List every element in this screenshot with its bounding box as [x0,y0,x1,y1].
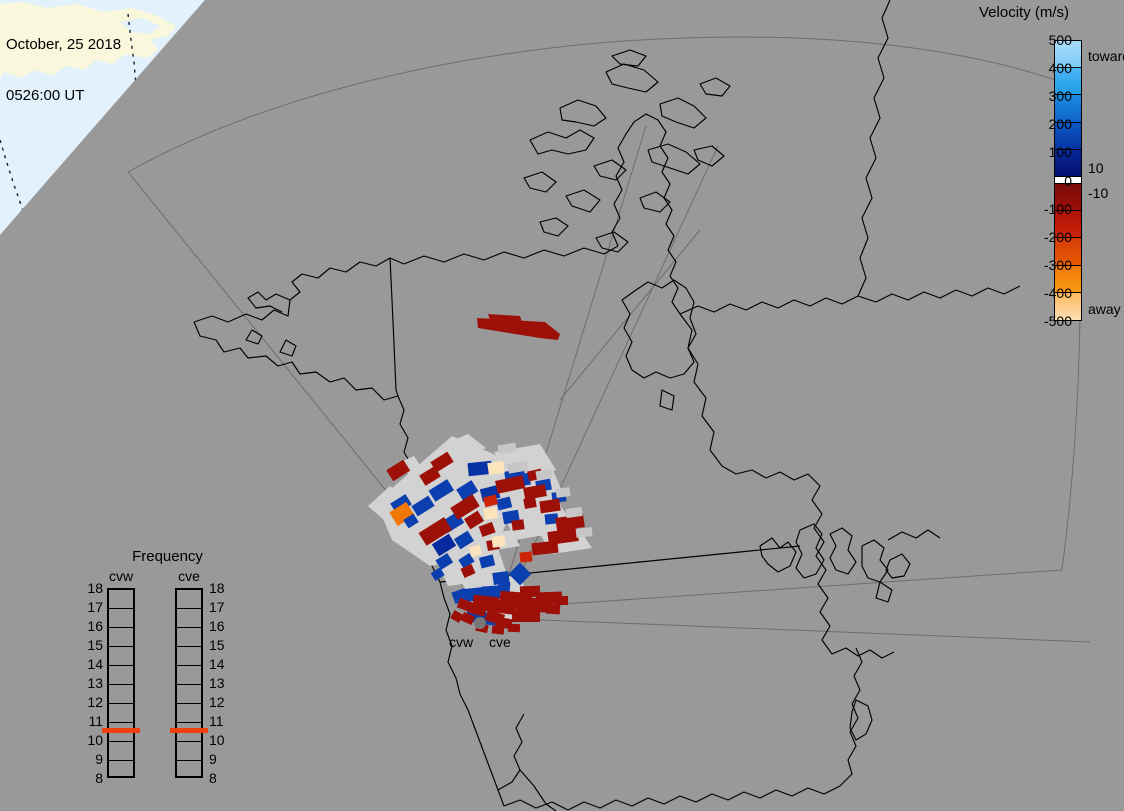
frequency-cell [109,761,133,780]
radar-map-canvas: October, 25 2018 0526:00 UT Velocity (m/… [0,0,1124,811]
velocity-tick-300: 300 [1049,88,1072,104]
frequency-cell [177,666,201,685]
frequency-cell [177,628,201,647]
frequency-tick-cvw-16: 16 [85,618,103,634]
frequency-cell [177,647,201,666]
frequency-scale-cvw [107,588,135,778]
frequency-cell [109,628,133,647]
frequency-tick-cve-10: 10 [209,732,225,748]
frequency-tick-cvw-14: 14 [85,656,103,672]
velocity-tick--500: -500 [1044,313,1072,329]
velocity-label-away: away [1088,301,1121,317]
frequency-tick-cvw-18: 18 [85,580,103,596]
frequency-tick-cvw-8: 8 [85,770,103,786]
frequency-tick-cvw-11: 11 [85,713,103,729]
station-marker-dot [474,617,486,629]
timestamp: October, 25 2018 0526:00 UT [6,2,121,138]
frequency-tick-cve-14: 14 [209,656,225,672]
frequency-tick-cve-8: 8 [209,770,217,786]
frequency-tick-cve-12: 12 [209,694,225,710]
frequency-cell [109,742,133,761]
frequency-tick-cvw-12: 12 [85,694,103,710]
frequency-tick-cvw-13: 13 [85,675,103,691]
frequency-legend: Frequency cvw18171615141312111098cve1817… [85,548,250,788]
frequency-tick-cve-13: 13 [209,675,225,691]
frequency-cell [177,590,201,609]
frequency-cell [109,609,133,628]
frequency-cell [177,685,201,704]
frequency-tick-cve-9: 9 [209,751,217,767]
frequency-legend-title: Frequency [85,548,250,565]
velocity-tick--400: -400 [1044,285,1072,301]
frequency-marker-cve [170,728,208,733]
frequency-tick-cve-18: 18 [209,580,225,596]
velocity-legend: Velocity (m/s) 5004003002001000-100-200-… [975,0,1124,340]
velocity-legend-title: Velocity (m/s) [979,4,1124,21]
frequency-cell [177,761,201,780]
velocity-tick--200: -200 [1044,229,1072,245]
velocity-tick--300: -300 [1044,257,1072,273]
timestamp-date: October, 25 2018 [6,36,121,53]
frequency-tick-cve-11: 11 [209,713,224,729]
frequency-scale-cve [175,588,203,778]
frequency-tick-cvw-17: 17 [85,599,103,615]
velocity-label-minus-10: -10 [1088,185,1108,201]
timestamp-time: 0526:00 UT [6,87,121,104]
frequency-tick-cve-15: 15 [209,637,225,653]
velocity-tick-0: 0 [1064,173,1072,189]
frequency-tick-cve-16: 16 [209,618,225,634]
frequency-cell [109,704,133,723]
frequency-tick-cvw-10: 10 [85,732,103,748]
station-label-cve: cve [489,634,511,650]
frequency-tick-cvw-15: 15 [85,637,103,653]
frequency-cell [109,685,133,704]
frequency-column-header-cve: cve [166,568,212,584]
velocity-label-toward: toward [1088,48,1124,64]
velocity-tick--100: -100 [1044,201,1072,217]
frequency-cell [109,647,133,666]
frequency-cell [109,590,133,609]
frequency-cell [177,609,201,628]
frequency-tick-cvw-9: 9 [85,751,103,767]
frequency-cell [177,742,201,761]
station-label-cvw: cvw [449,634,473,650]
frequency-marker-cvw [102,728,140,733]
frequency-cell [177,704,201,723]
velocity-tick-400: 400 [1049,60,1072,76]
frequency-column-header-cvw: cvw [98,568,144,584]
frequency-tick-cve-17: 17 [209,599,225,615]
velocity-tick-100: 100 [1049,144,1072,160]
velocity-tick-200: 200 [1049,116,1072,132]
frequency-cell [109,666,133,685]
velocity-tick-500: 500 [1049,32,1072,48]
velocity-label-plus-10: 10 [1088,160,1104,176]
